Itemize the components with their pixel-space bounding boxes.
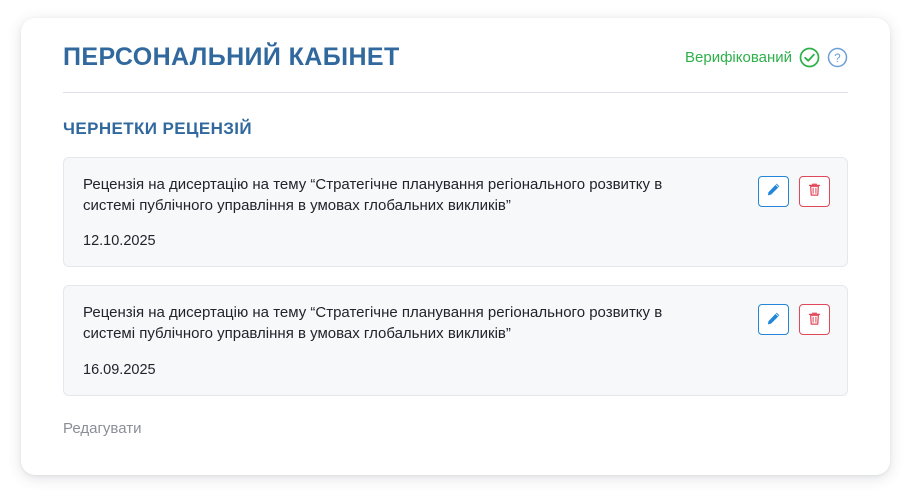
delete-button[interactable] bbox=[799, 176, 830, 207]
panel-header: ПЕРСОНАЛЬНИЙ КАБІНЕТ Верифікований ? bbox=[63, 44, 848, 92]
panel-footer: Редагувати bbox=[63, 396, 848, 438]
draft-date: 16.09.2025 bbox=[83, 362, 742, 378]
draft-title: Рецензія на дисертацію на тему “Стратегі… bbox=[83, 174, 683, 217]
section-title-drafts: ЧЕРНЕТКИ РЕЦЕНЗІЙ bbox=[63, 93, 848, 157]
page-title: ПЕРСОНАЛЬНИЙ КАБІНЕТ bbox=[63, 44, 400, 72]
trash-icon bbox=[807, 311, 822, 329]
delete-button[interactable] bbox=[799, 304, 830, 335]
draft-date: 12.10.2025 bbox=[83, 233, 742, 249]
trash-icon bbox=[807, 182, 822, 200]
draft-actions bbox=[758, 174, 830, 207]
verification-status: Верифікований ? bbox=[685, 47, 848, 68]
personal-cabinet-panel: ПЕРСОНАЛЬНИЙ КАБІНЕТ Верифікований ? bbox=[21, 18, 890, 475]
list-item: Рецензія на дисертацію на тему “Стратегі… bbox=[63, 157, 848, 268]
edit-link[interactable]: Редагувати bbox=[63, 420, 142, 437]
list-item: Рецензія на дисертацію на тему “Стратегі… bbox=[63, 285, 848, 396]
draft-content: Рецензія на дисертацію на тему “Стратегі… bbox=[83, 302, 742, 378]
drafts-list: Рецензія на дисертацію на тему “Стратегі… bbox=[63, 157, 848, 396]
draft-content: Рецензія на дисертацію на тему “Стратегі… bbox=[83, 174, 742, 250]
draft-title: Рецензія на дисертацію на тему “Стратегі… bbox=[83, 302, 683, 345]
edit-button[interactable] bbox=[758, 176, 789, 207]
pencil-icon bbox=[766, 311, 781, 329]
status-badge: Верифікований bbox=[685, 49, 792, 66]
page-background: ПЕРСОНАЛЬНИЙ КАБІНЕТ Верифікований ? bbox=[0, 0, 911, 494]
question-circle-icon[interactable]: ? bbox=[827, 47, 848, 68]
svg-text:?: ? bbox=[834, 53, 840, 65]
check-circle-icon bbox=[799, 47, 820, 68]
edit-button[interactable] bbox=[758, 304, 789, 335]
draft-actions bbox=[758, 302, 830, 335]
pencil-icon bbox=[766, 182, 781, 200]
